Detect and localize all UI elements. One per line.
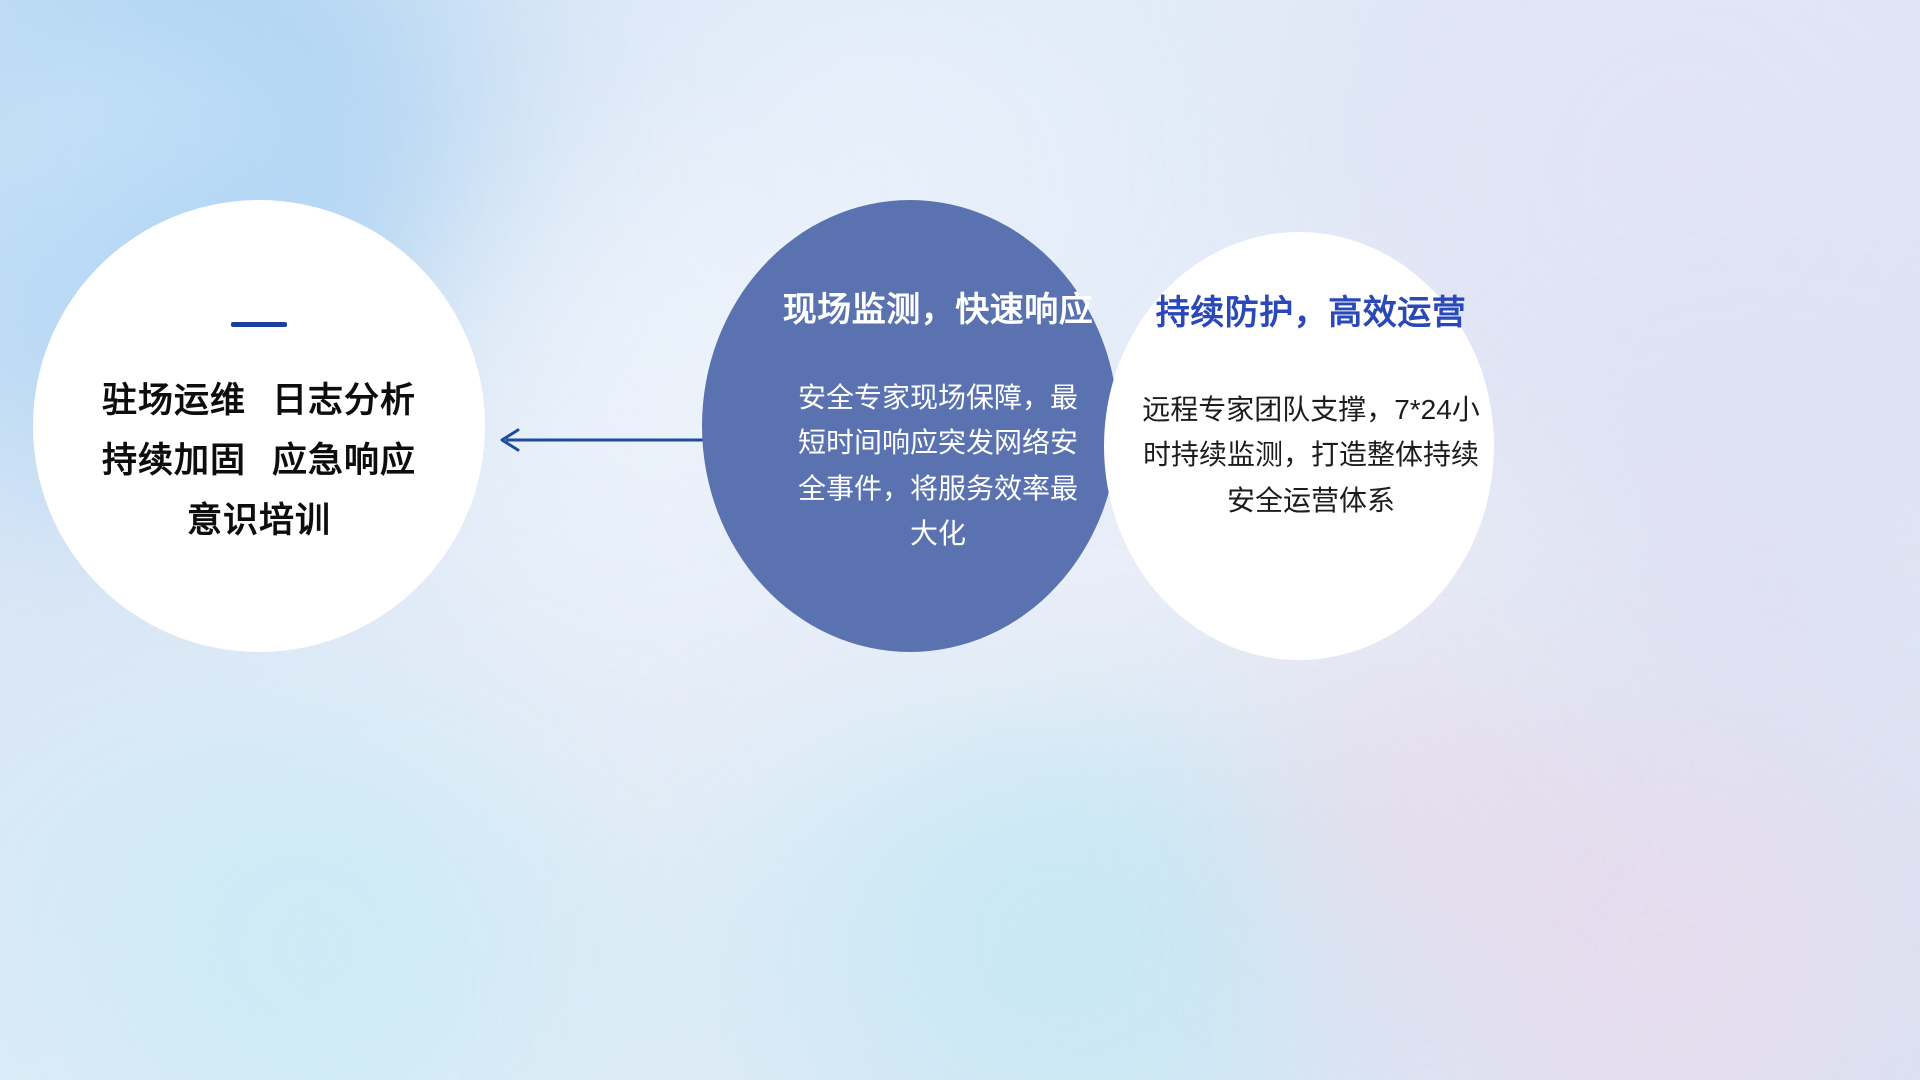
- capability-item: 应急响应: [272, 441, 416, 480]
- feature-circle-remote-body: 远程专家团队支撑，7*24小时持续监测，打造整体持续安全运营体系: [1136, 387, 1486, 523]
- capability-circle-left[interactable]: 驻场运维日志分析 持续加固应急响应 意识培训: [33, 200, 485, 652]
- divider-dash: [231, 322, 287, 327]
- capability-item: 意识培训: [187, 501, 331, 540]
- slide-canvas: 驻场运维日志分析 持续加固应急响应 意识培训 现场监测，快速响应 安全专家现场保…: [0, 0, 1920, 1080]
- feature-circle-onsite-title: 现场监测，快速响应: [783, 282, 1094, 331]
- capability-row: 意识培训: [102, 491, 416, 551]
- feature-circle-remote[interactable]: 持续防护，高效运营 远程专家团队支撑，7*24小时持续监测，打造整体持续安全运营…: [1104, 232, 1494, 660]
- feature-circle-remote-title: 持续防护，高效运营: [1156, 285, 1467, 334]
- capability-item: 持续加固: [102, 441, 246, 480]
- capability-list: 驻场运维日志分析 持续加固应急响应 意识培训: [102, 371, 416, 552]
- capability-item: 日志分析: [272, 381, 416, 420]
- feature-circle-onsite[interactable]: 现场监测，快速响应 安全专家现场保障，最短时间响应突发网络安全事件，将服务效率最…: [702, 200, 1118, 652]
- capability-row: 驻场运维日志分析: [102, 371, 416, 431]
- connector-arrow-icon: [492, 418, 722, 462]
- capability-row: 持续加固应急响应: [102, 431, 416, 491]
- capability-item: 驻场运维: [102, 381, 246, 420]
- feature-circle-onsite-body: 安全专家现场保障，最短时间响应突发网络安全事件，将服务效率最大化: [788, 375, 1088, 556]
